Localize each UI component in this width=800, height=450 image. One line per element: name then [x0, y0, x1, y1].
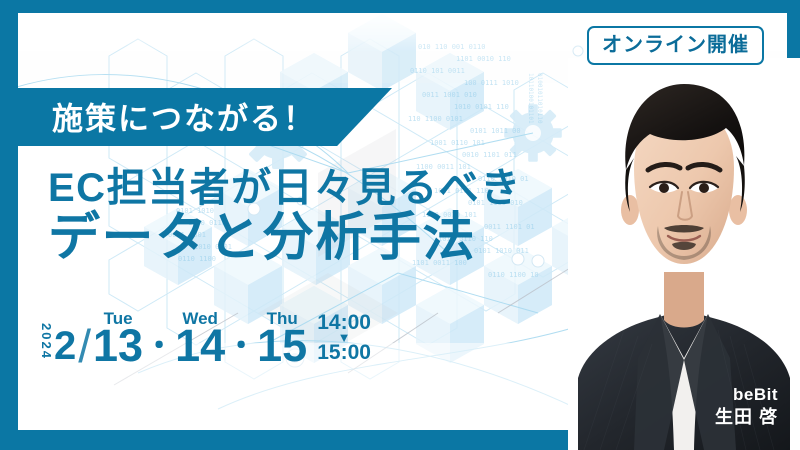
title-line-2: データと分析手法	[48, 211, 522, 266]
event-day-3-num: 15	[257, 327, 307, 366]
webinar-banner: 010 110 001 0110 1101 0010 110 0110 101 …	[0, 0, 800, 450]
frame-left-bar	[0, 0, 18, 450]
svg-text:0010 1101 011: 0010 1101 011	[462, 151, 517, 159]
title-line-1: EC担当者が日々見るべき	[48, 168, 522, 209]
event-day-3: Thu 15	[257, 310, 307, 366]
speaker-credit: beBit 生田 啓	[715, 384, 778, 428]
event-year: 2024	[40, 323, 53, 360]
frame-top-bar	[0, 0, 800, 13]
svg-text:0011 1001 010: 0011 1001 010	[422, 91, 477, 99]
day-delimiter-2: ・	[225, 332, 257, 366]
online-event-badge-label: オンライン開催	[602, 35, 749, 55]
event-day-2-num: 14	[175, 327, 225, 366]
svg-text:1001 0110 101: 1001 0110 101	[430, 139, 485, 147]
page-title: EC担当者が日々見るべき データと分析手法	[48, 168, 522, 265]
event-month: 2	[54, 329, 76, 364]
speaker-name: 生田 啓	[715, 406, 778, 429]
event-date-block: 2024 2 / Tue 13 ・ Wed 14 ・ Thu 15 14:00 …	[40, 310, 371, 366]
event-day-1-num: 13	[93, 327, 143, 366]
svg-text:110 1100 0101: 110 1100 0101	[408, 115, 463, 123]
event-time-range: 14:00 ▼ 15:00	[317, 312, 371, 364]
catchcopy-ribbon: 施策につながる！	[0, 88, 392, 146]
event-days: Tue 13 ・ Wed 14 ・ Thu 15	[93, 310, 307, 366]
event-time-end: 15:00	[317, 342, 371, 364]
date-separator: /	[78, 327, 91, 366]
event-day-1: Tue 13	[93, 310, 143, 366]
svg-text:0110 1100 10: 0110 1100 10	[488, 271, 539, 279]
svg-text:1010 0101 110: 1010 0101 110	[454, 103, 509, 111]
speaker-company: beBit	[715, 384, 778, 405]
catchcopy-text: 施策につながる！	[52, 94, 316, 139]
day-delimiter-1: ・	[143, 332, 175, 366]
online-event-badge: オンライン開催	[587, 26, 764, 65]
svg-text:0101 1011 00: 0101 1011 00	[470, 127, 521, 135]
event-day-2: Wed 14	[175, 310, 225, 366]
